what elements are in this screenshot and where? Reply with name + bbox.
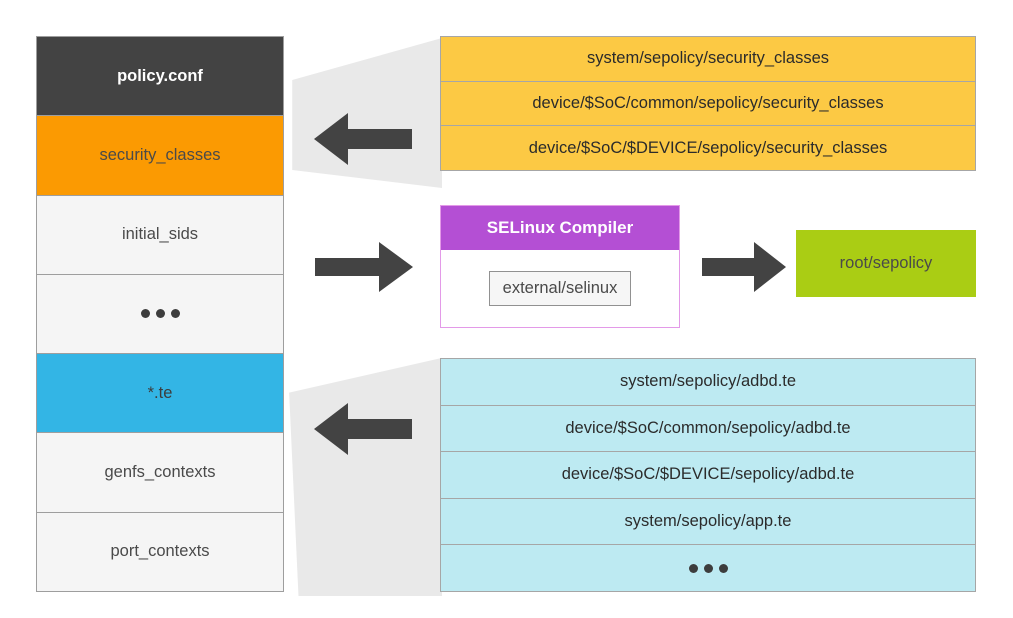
compiler-title: SELinux Compiler (441, 206, 679, 250)
stack-cell-label: security_classes (99, 146, 220, 165)
stack-cell-label: *.te (148, 384, 173, 403)
ellipsis-icon (141, 309, 180, 318)
arrow-right-icon-to-output (702, 240, 786, 294)
stack-cell-security-classes[interactable]: security_classes (37, 116, 283, 195)
path-label: system/sepolicy/adbd.te (620, 372, 796, 391)
stack-cell-initial-sids[interactable]: initial_sids (37, 196, 283, 275)
table-row[interactable]: device/$SoC/$DEVICE/sepolicy/adbd.te (441, 452, 975, 499)
path-label: device/$SoC/common/sepolicy/adbd.te (565, 419, 850, 438)
stack-cell-label: policy.conf (117, 67, 203, 86)
arrow-left-icon-security-classes (314, 110, 412, 168)
output-box-root-sepolicy[interactable]: root/sepolicy (796, 230, 976, 297)
stack-cell-label: port_contexts (110, 542, 209, 561)
selinux-compiler-card[interactable]: SELinux Compiler external/selinux (440, 205, 680, 328)
table-row[interactable]: system/sepolicy/app.te (441, 499, 975, 546)
path-label: device/$SoC/common/sepolicy/security_cla… (532, 94, 883, 113)
path-label: system/sepolicy/app.te (625, 512, 792, 531)
table-row-ellipsis[interactable] (441, 545, 975, 591)
stack-cell-policy-conf[interactable]: policy.conf (37, 37, 283, 116)
arrow-right-icon-to-compiler (315, 240, 413, 294)
ellipsis-icon (689, 564, 728, 573)
stack-cell-te-files[interactable]: *.te (37, 354, 283, 433)
stack-cell-genfs-contexts[interactable]: genfs_contexts (37, 433, 283, 512)
table-row[interactable]: device/$SoC/common/sepolicy/adbd.te (441, 406, 975, 453)
path-label: system/sepolicy/security_classes (587, 49, 829, 68)
funnel-te-files (286, 348, 442, 596)
policy-conf-stack: policy.conf security_classes initial_sid… (36, 36, 284, 592)
table-row[interactable]: device/$SoC/common/sepolicy/security_cla… (441, 82, 975, 127)
stack-cell-label: initial_sids (122, 225, 198, 244)
compiler-body: external/selinux (441, 250, 679, 327)
security-classes-source-table: system/sepolicy/security_classes device/… (440, 36, 976, 171)
output-label: root/sepolicy (840, 254, 933, 273)
stack-cell-port-contexts[interactable]: port_contexts (37, 513, 283, 591)
stack-cell-label: genfs_contexts (105, 463, 216, 482)
path-label: device/$SoC/$DEVICE/sepolicy/security_cl… (529, 139, 888, 158)
compiler-source-chip[interactable]: external/selinux (489, 271, 632, 306)
table-row[interactable]: device/$SoC/$DEVICE/sepolicy/security_cl… (441, 126, 975, 170)
path-label: device/$SoC/$DEVICE/sepolicy/adbd.te (562, 465, 855, 484)
stack-cell-ellipsis[interactable] (37, 275, 283, 354)
table-row[interactable]: system/sepolicy/adbd.te (441, 359, 975, 406)
table-row[interactable]: system/sepolicy/security_classes (441, 37, 975, 82)
arrow-left-icon-te-files (314, 400, 412, 458)
diagram-canvas: policy.conf security_classes initial_sid… (0, 0, 1013, 618)
te-file-source-table: system/sepolicy/adbd.te device/$SoC/comm… (440, 358, 976, 592)
